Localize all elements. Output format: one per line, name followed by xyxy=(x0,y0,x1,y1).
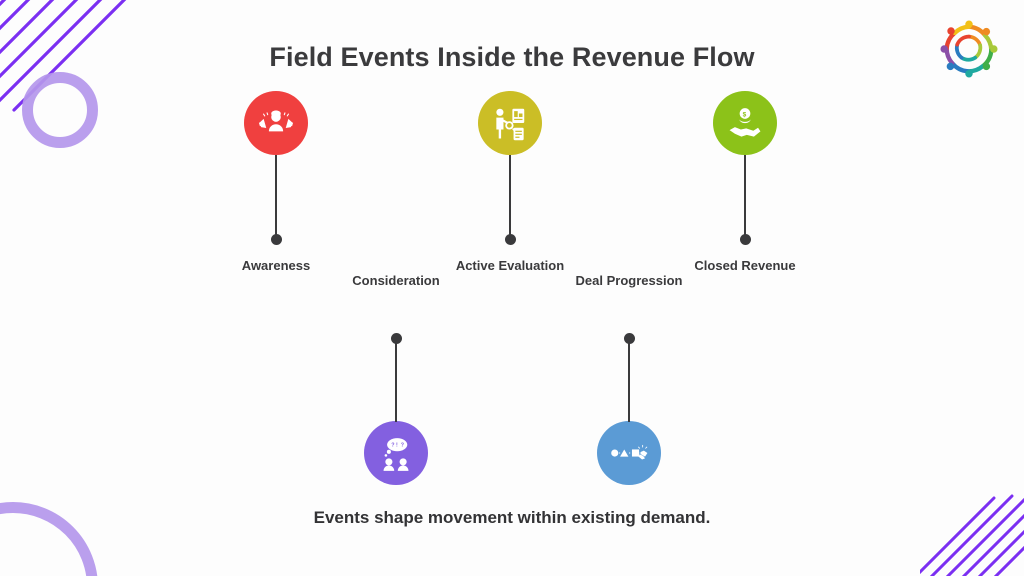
connector-dot xyxy=(271,234,282,245)
slide-caption: Events shape movement within existing de… xyxy=(0,508,1024,528)
connector-stem xyxy=(628,338,630,422)
consideration-bubble[interactable]: ? ! ? xyxy=(364,421,428,485)
flow-label-deal-progression: Deal Progression xyxy=(576,273,683,288)
shapes-handshake-icon xyxy=(610,434,648,472)
svg-text:!: ! xyxy=(396,442,398,448)
person-analysis-clipboard-icon xyxy=(491,104,529,142)
active-evaluation-bubble[interactable] xyxy=(478,91,542,155)
closed-revenue-bubble[interactable]: $ xyxy=(713,91,777,155)
megaphone-person-icon xyxy=(257,104,295,142)
connector-dot xyxy=(391,333,402,344)
people-thought-bubble-icon: ? ! ? xyxy=(377,434,415,472)
connector-stem xyxy=(509,155,511,239)
flow-label-awareness: Awareness xyxy=(242,258,310,273)
flow-label-closed-revenue: Closed Revenue xyxy=(694,258,795,273)
connector-dot xyxy=(740,234,751,245)
connector-dot xyxy=(505,234,516,245)
connector-stem xyxy=(275,155,277,239)
flow-label-consideration: Consideration xyxy=(352,273,439,288)
awareness-bubble[interactable] xyxy=(244,91,308,155)
handshake-coin-icon: $ xyxy=(726,104,764,142)
connector-stem xyxy=(395,338,397,422)
svg-text:?: ? xyxy=(391,442,394,448)
deal-progression-bubble[interactable] xyxy=(597,421,661,485)
svg-text:$: $ xyxy=(743,111,747,118)
svg-text:?: ? xyxy=(401,442,404,448)
connector-dot xyxy=(624,333,635,344)
slide-canvas: Field Events Inside the Revenue Flow xyxy=(0,0,1024,576)
flow-label-active-evaluation: Active Evaluation xyxy=(456,258,564,273)
connector-stem xyxy=(744,155,746,239)
revenue-flow-diagram: Awareness ? ! xyxy=(0,0,1024,576)
